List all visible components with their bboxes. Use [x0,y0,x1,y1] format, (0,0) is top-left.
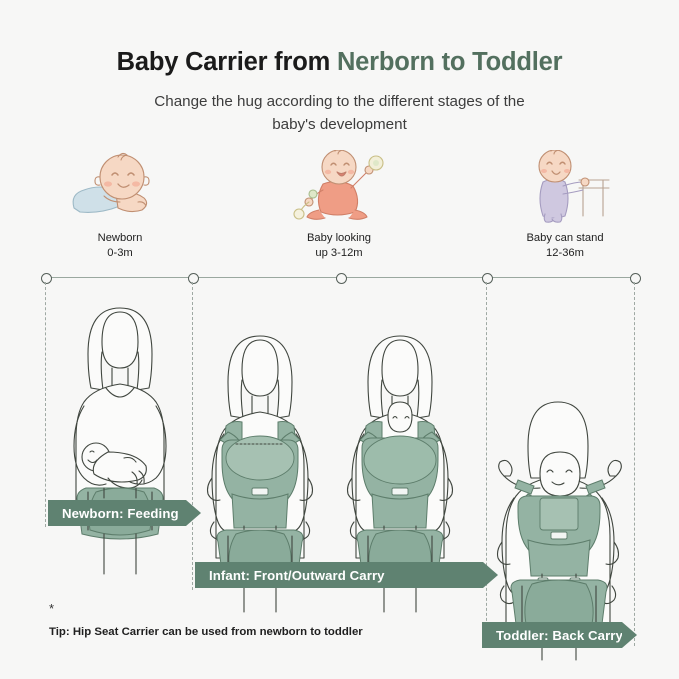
stage-newborn: Newborn 0-3m [30,150,210,260]
tip-text: Tip: Hip Seat Carrier can be used from n… [49,626,363,638]
banner-toddler-arrow [622,622,637,648]
stage-baby-looking-up-line2: up 3-12m [249,246,429,261]
stage-baby-looking-up: Baby looking up 3-12m [249,150,429,260]
banner-newborn-body: Newborn: Feeding [48,500,186,526]
banner-infant-label: Infant: Front/Outward Carry [209,568,385,583]
crawling-baby-icon [30,150,210,225]
infographic-root: Baby Carrier from Nerborn to Toddler Cha… [0,0,679,679]
stage-baby-can-stand-line2: 12-36m [475,246,655,261]
page-subtitle-line1: Change the hug according to the differen… [0,90,679,113]
stage-baby-looking-up-line1: Baby looking [307,232,371,244]
standing-baby-icon [475,150,655,225]
banner-infant-arrow [483,562,498,588]
banner-toddler-body: Toddler: Back Carry [482,622,622,648]
stage-newborn-line2: 0-3m [30,246,210,261]
banner-infant: Infant: Front/Outward Carry [195,562,498,588]
banner-toddler: Toddler: Back Carry [482,622,637,648]
page-title-highlight: Nerborn to Toddler [337,48,562,76]
stage-baby-can-stand-line1: Baby can stand [526,232,603,244]
banner-toddler-label: Toddler: Back Carry [496,628,623,643]
stage-newborn-label: Newborn 0-3m [30,231,210,260]
banner-infant-body: Infant: Front/Outward Carry [195,562,483,588]
stage-baby-can-stand: Baby can stand 12-36m [475,150,655,260]
stage-baby-looking-up-label: Baby looking up 3-12m [249,231,429,260]
stage-baby-can-stand-label: Baby can stand 12-36m [475,231,655,260]
tip-asterisk: * [49,604,54,614]
page-subtitle: Change the hug according to the differen… [0,90,679,136]
banner-newborn-label: Newborn: Feeding [62,506,179,521]
page-title-prefix: Baby Carrier from [117,48,337,76]
banner-newborn: Newborn: Feeding [48,500,201,526]
sitting-baby-icon [249,150,429,225]
figure-feeding [74,308,166,574]
banner-newborn-arrow [186,500,201,526]
page-subtitle-line2: baby's development [0,113,679,136]
illustration-scene: .ln{fill:none;stroke:#40463f;stroke-widt… [0,282,679,679]
page-title: Baby Carrier from Nerborn to Toddler [0,48,679,77]
stage-newborn-line1: Newborn [98,232,143,244]
